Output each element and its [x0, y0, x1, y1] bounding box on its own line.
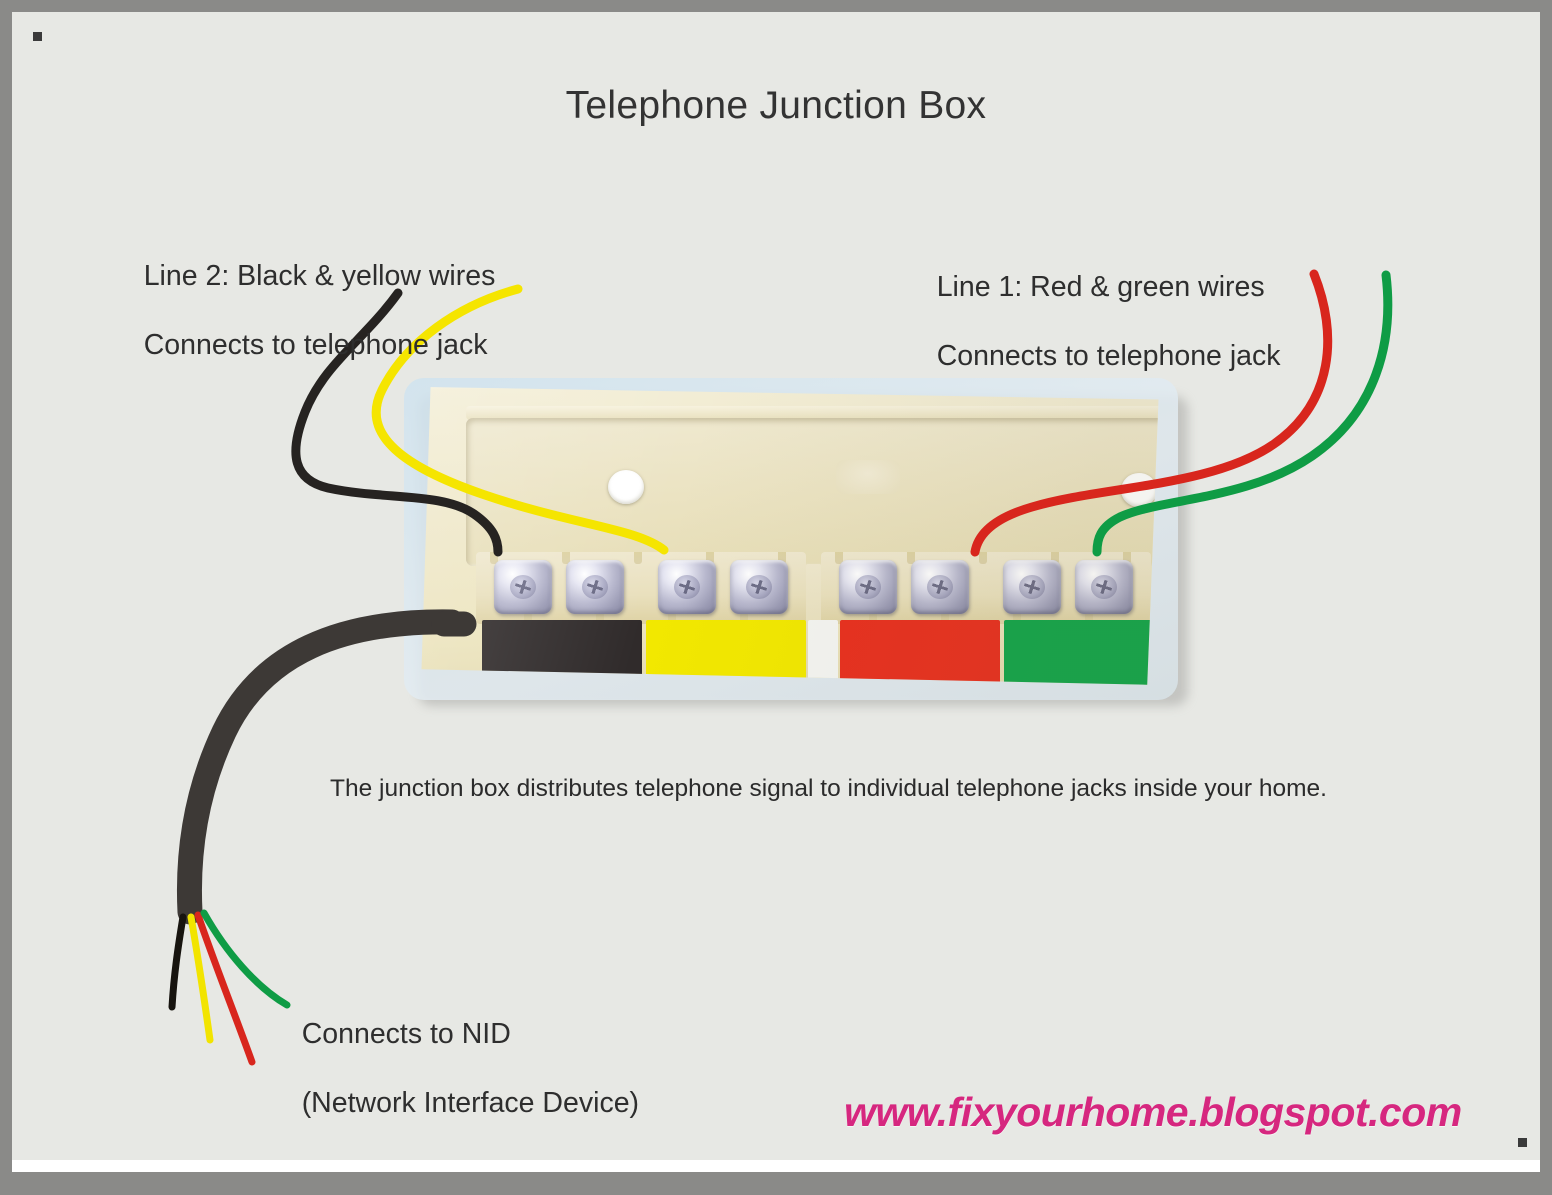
terminal-screw-green-1[interactable]	[1003, 560, 1061, 614]
terminal-strip-line2	[476, 552, 806, 624]
terminal-screw-red-1[interactable]	[839, 560, 897, 614]
terminal-block-spacer	[808, 620, 838, 686]
diagram-canvas: Telephone Junction Box	[12, 12, 1540, 1172]
nid-black-conductor	[172, 917, 183, 1007]
label-line2-row2: Connects to telephone jack	[144, 329, 488, 361]
label-line2-row1: Line 2: Black & yellow wires	[144, 260, 496, 292]
telephone-junction-box	[390, 370, 1196, 710]
terminal-screw-green-2[interactable]	[1075, 560, 1133, 614]
nid-yellow-conductor	[191, 917, 210, 1040]
box-plastic-body	[414, 384, 1166, 694]
corner-marker-bottom-right	[1518, 1138, 1527, 1147]
terminal-strip-line1	[821, 552, 1151, 624]
terminal-screw-red-2[interactable]	[911, 560, 969, 614]
diagram-caption: The junction box distributes telephone s…	[330, 774, 1327, 804]
label-line1: Line 1: Red & green wires Connects to te…	[905, 235, 1281, 409]
label-line1-row1: Line 1: Red & green wires	[937, 271, 1265, 303]
strip-tab	[979, 552, 987, 564]
website-watermark[interactable]: www.fixyourhome.blogspot.com	[844, 1087, 1462, 1137]
box-center-boss	[836, 460, 900, 494]
corner-marker-top-left	[33, 32, 42, 41]
terminal-screw-yellow-2[interactable]	[730, 560, 788, 614]
label-nid-row1: Connects to NID	[302, 1018, 511, 1050]
terminal-screw-black-1[interactable]	[494, 560, 552, 614]
terminal-screw-yellow-1[interactable]	[658, 560, 716, 614]
strip-tab	[634, 552, 642, 564]
nid-red-conductor	[198, 915, 252, 1062]
label-line1-row2: Connects to telephone jack	[937, 340, 1281, 372]
terminal-screw-black-2[interactable]	[566, 560, 624, 614]
label-nid: Connects to NID (Network Interface Devic…	[270, 982, 639, 1156]
box-inner-recess	[466, 418, 1166, 566]
mounting-hole-right	[1121, 473, 1157, 507]
page-title: Telephone Junction Box	[12, 82, 1540, 130]
terminal-block-red	[840, 620, 1000, 686]
terminal-block-green	[1004, 620, 1154, 686]
mounting-hole-left	[608, 470, 644, 504]
label-line2: Line 2: Black & yellow wires Connects to…	[112, 224, 495, 398]
label-nid-row2: (Network Interface Device)	[302, 1087, 639, 1119]
